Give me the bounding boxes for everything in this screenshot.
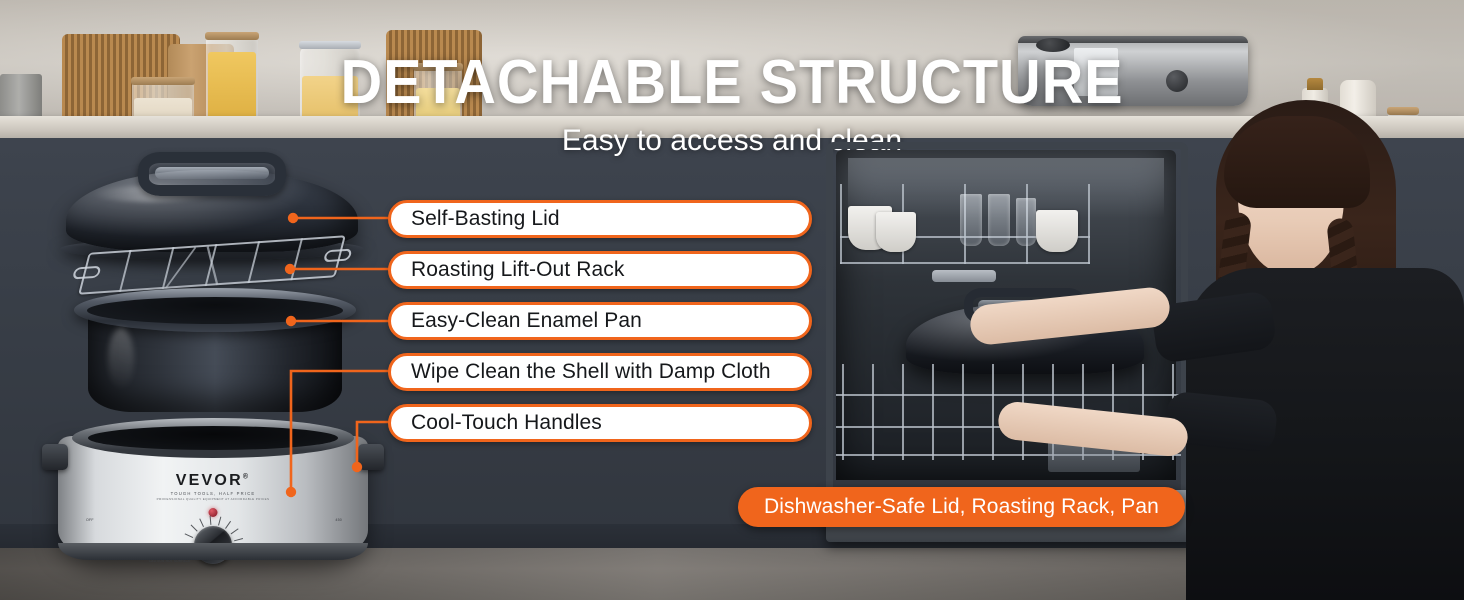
vevor-brand-mark: VEVOR® TOUGH TOOLS, HALF PRICE PROFESSIO…	[157, 472, 270, 501]
callout-label: Self-Basting Lid	[411, 207, 560, 231]
brand-subtext: PROFESSIONAL QUALITY EQUIPMENT AT AFFORD…	[157, 497, 270, 501]
callout-roasting-lift-out-rack[interactable]: Roasting Lift-Out Rack	[388, 251, 812, 289]
cool-touch-handle-left	[42, 444, 68, 470]
brand-trademark: ®	[243, 474, 250, 481]
brand-name-text: VEVOR	[176, 472, 243, 489]
background-roaster-oven	[1018, 36, 1248, 106]
callout-label: Easy-Clean Enamel Pan	[411, 309, 642, 333]
rack-lift-handle-right	[323, 249, 353, 263]
lid-handle	[138, 152, 286, 196]
temperature-control-knob[interactable]	[194, 526, 232, 564]
exploded-product-diagram: VEVOR® TOUGH TOOLS, HALF PRICE PROFESSIO…	[0, 0, 420, 600]
callout-label: Cool-Touch Handles	[411, 411, 602, 435]
callout-cool-touch-handles[interactable]: Cool-Touch Handles	[388, 404, 812, 442]
callout-wipe-clean-shell[interactable]: Wipe Clean the Shell with Damp Cloth	[388, 353, 812, 391]
dishwasher-safe-badge[interactable]: Dishwasher-Safe Lid, Roasting Rack, Pan	[738, 487, 1185, 527]
cool-touch-handle-right	[358, 444, 384, 470]
dial-label-max: 450	[335, 518, 342, 522]
callout-label: Wipe Clean the Shell with Damp Cloth	[411, 360, 771, 384]
marketing-banner: DETACHABLE STRUCTURE Easy to access and …	[0, 0, 1464, 600]
callout-easy-clean-enamel-pan[interactable]: Easy-Clean Enamel Pan	[388, 302, 812, 340]
callout-self-basting-lid[interactable]: Self-Basting Lid	[388, 200, 812, 238]
product-part-enamel-pan	[74, 288, 356, 416]
badge-label: Dishwasher-Safe Lid, Roasting Rack, Pan	[764, 495, 1159, 519]
product-part-outer-shell: VEVOR® TOUGH TOOLS, HALF PRICE PROFESSIO…	[58, 418, 368, 570]
hair-front	[1224, 116, 1370, 208]
brand-tagline: TOUGH TOOLS, HALF PRICE	[157, 491, 270, 496]
hot-surface-warning: CAUTION HOT SURFACE	[149, 546, 191, 563]
warning-label: CAUTION HOT SURFACE	[149, 559, 191, 563]
dial-label-min: OFF	[86, 518, 94, 522]
callout-label: Roasting Lift-Out Rack	[411, 258, 624, 282]
